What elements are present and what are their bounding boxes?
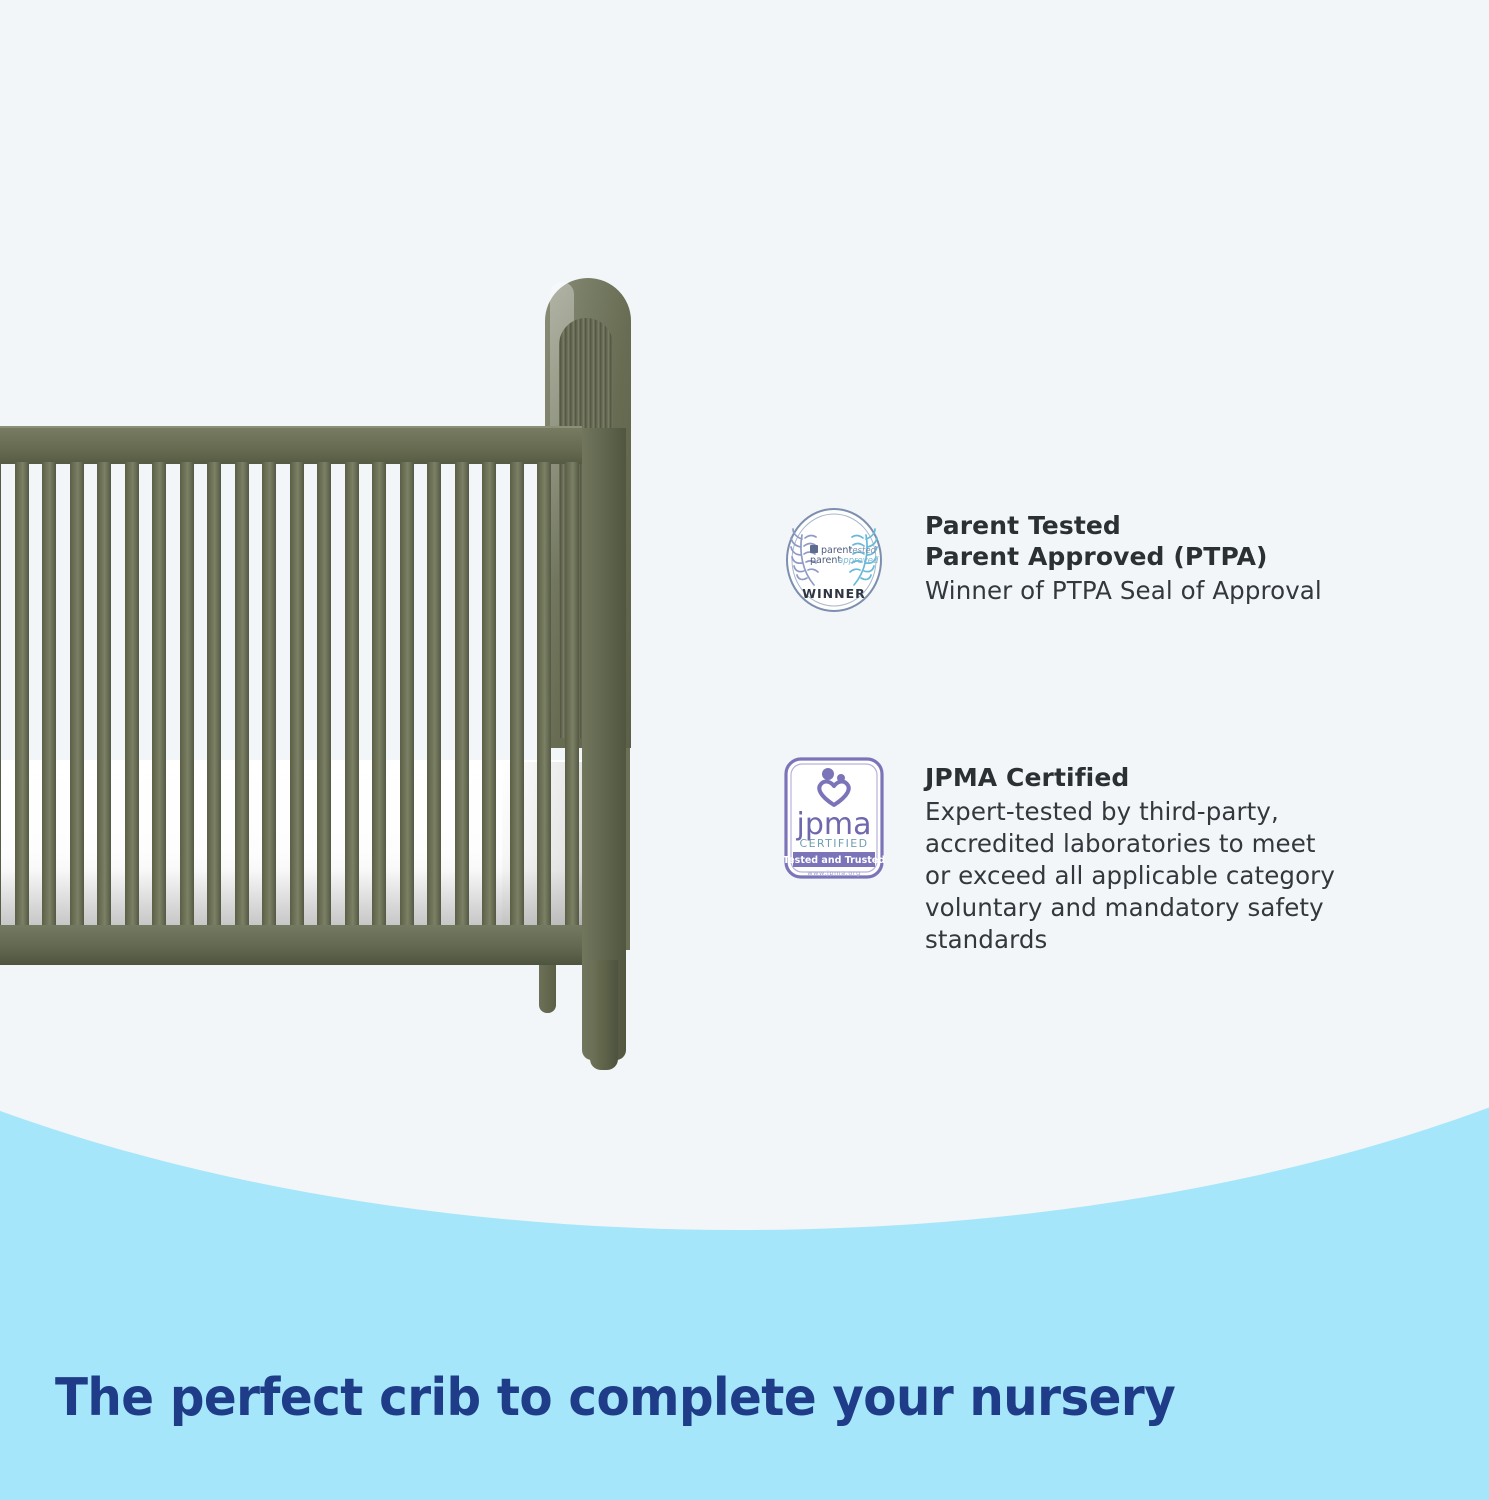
jpma-description: Expert-tested by third-party, accredited…: [925, 796, 1345, 956]
jpma-title: JPMA Certified: [925, 763, 1345, 794]
svg-text:Tested and Trusted: Tested and Trusted: [784, 855, 884, 866]
ptpa-text-block: Parent Tested Parent Approved (PTPA) Win…: [925, 505, 1322, 607]
crib-slat: [565, 462, 579, 928]
crib-inner-leg: [539, 965, 556, 1013]
svg-text:CERTIFIED: CERTIFIED: [799, 837, 868, 850]
svg-text:www.jpma.org: www.jpma.org: [807, 869, 861, 877]
page-headline: The perfect crib to complete your nurser…: [55, 1368, 1338, 1428]
crib-slat: [345, 462, 359, 928]
crib-slat: [290, 462, 304, 928]
ptpa-badge-slot: parent tested parent approved WINNER: [780, 505, 888, 615]
crib-slat: [317, 462, 331, 928]
jpma-text-block: JPMA Certified Expert-tested by third-pa…: [925, 757, 1345, 956]
crib-slat: [372, 462, 386, 928]
feature-row-jpma: jpma CERTIFIED Tested and Trusted www.jp…: [780, 757, 1420, 956]
feature-row-ptpa: parent tested parent approved WINNER Par…: [780, 505, 1420, 615]
svg-text:tested: tested: [849, 546, 877, 556]
crib-slat: [455, 462, 469, 928]
crib-front-leg: [590, 960, 618, 1070]
ptpa-description: Winner of PTPA Seal of Approval: [925, 575, 1322, 607]
certification-feature-list: parent tested parent approved WINNER Par…: [780, 505, 1420, 956]
ptpa-winner-seal-icon: parent tested parent approved WINNER: [782, 505, 886, 615]
ptpa-title-line1: Parent Tested: [925, 511, 1121, 540]
crib-slat: [482, 462, 496, 928]
crib-slat: [262, 462, 276, 928]
jpma-certified-seal-icon: jpma CERTIFIED Tested and Trusted www.jp…: [784, 757, 884, 879]
jpma-badge-slot: jpma CERTIFIED Tested and Trusted www.jp…: [780, 757, 888, 879]
crib-slat: [537, 462, 551, 928]
marketing-image: parent tested parent approved WINNER Par…: [0, 0, 1489, 1500]
bottom-blue-band: [0, 1090, 1489, 1500]
crib-slat: [427, 462, 441, 928]
crib-slat: [235, 462, 249, 928]
ptpa-title-line2: Parent Approved (PTPA): [925, 542, 1268, 571]
crib-product-illustration: [0, 270, 672, 1070]
crib-top-rail: [0, 428, 582, 464]
svg-text:approved: approved: [838, 556, 879, 566]
crib-slat: [207, 462, 221, 928]
ptpa-title: Parent Tested Parent Approved (PTPA): [925, 511, 1322, 573]
crib-bottom-rail: [0, 925, 586, 965]
crib-slat: [97, 462, 111, 928]
crib-slat: [70, 462, 84, 928]
crib-slat: [400, 462, 414, 928]
crib-slat: [152, 462, 166, 928]
crib-slat: [510, 462, 524, 928]
crib-slat: [180, 462, 194, 928]
crib-slat: [15, 462, 29, 928]
crib-slat: [0, 462, 1, 928]
svg-text:parent: parent: [810, 555, 841, 566]
svg-text:WINNER: WINNER: [802, 586, 866, 601]
crib-slats: [0, 462, 582, 928]
band-fill: [0, 1090, 1489, 1500]
crib-slat: [125, 462, 139, 928]
band-curve-cutout: [0, 1090, 1489, 1230]
crib-slat: [42, 462, 56, 928]
